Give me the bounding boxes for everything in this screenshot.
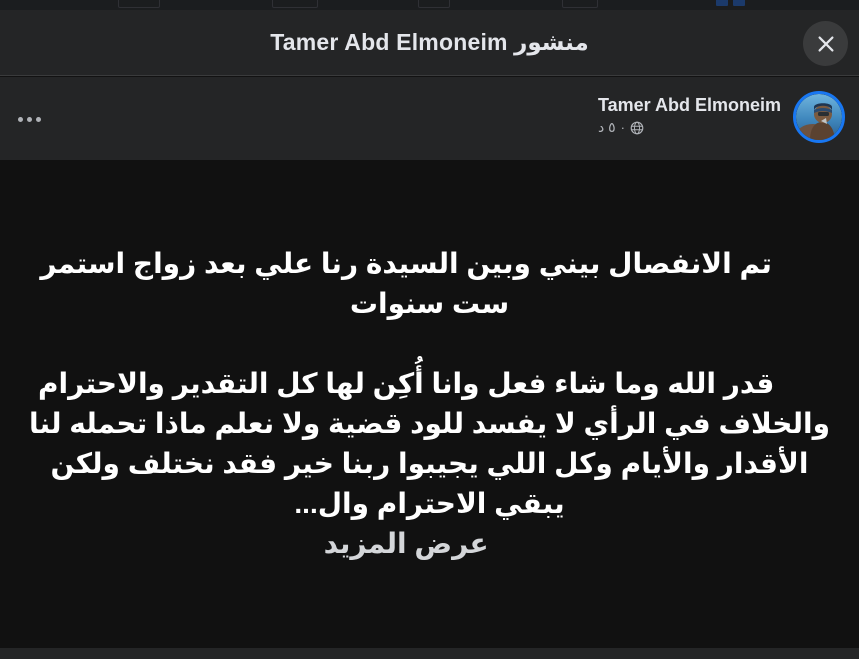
separator-dot: · [621, 119, 625, 136]
close-icon [815, 33, 837, 55]
avatar[interactable] [793, 91, 845, 143]
post-options-button[interactable] [9, 101, 49, 137]
post-body: تم الانفصال بيني وبين السيدة رنا علي بعد… [0, 160, 859, 648]
post-header: Tamer Abd Elmoneim ٥ د · [0, 77, 859, 160]
bottom-chrome-strip [0, 648, 859, 659]
ghost-chrome-element-6 [733, 0, 745, 6]
see-more-button[interactable]: عرض المزيد [324, 528, 489, 559]
dialog-title: منشور Tamer Abd Elmoneim [0, 10, 859, 75]
close-button[interactable] [803, 21, 848, 66]
post-text-line-2: قدر الله وما شاء فعل وانا أُكِن لها كل ا… [21, 368, 830, 519]
ghost-chrome-element-1 [118, 0, 160, 8]
globe-icon[interactable] [630, 121, 644, 135]
ellipsis-dot-3 [18, 117, 23, 122]
post-author-name[interactable]: Tamer Abd Elmoneim [598, 94, 781, 116]
post-timestamp[interactable]: ٥ د [598, 119, 616, 136]
ellipsis-dot-2 [27, 117, 32, 122]
post-text: تم الانفصال بيني وبين السيدة رنا علي بعد… [26, 204, 833, 604]
background-app-chrome-strip [0, 0, 859, 10]
ghost-chrome-element-5 [716, 0, 728, 6]
ellipsis-horizontal-icon [36, 117, 41, 122]
dialog-header: منشور Tamer Abd Elmoneim [0, 10, 859, 76]
ghost-chrome-element-4 [562, 0, 598, 8]
post-text-line-1: تم الانفصال بيني وبين السيدة رنا علي بعد… [33, 248, 772, 319]
post-subtitle: ٥ د · [598, 119, 781, 136]
avatar-photo [796, 94, 842, 140]
ghost-chrome-element-2 [272, 0, 318, 8]
ghost-chrome-element-3 [418, 0, 450, 8]
post-dialog-screen: منشور Tamer Abd Elmoneim [0, 0, 859, 659]
post-author-meta: Tamer Abd Elmoneim ٥ د · [598, 94, 781, 136]
